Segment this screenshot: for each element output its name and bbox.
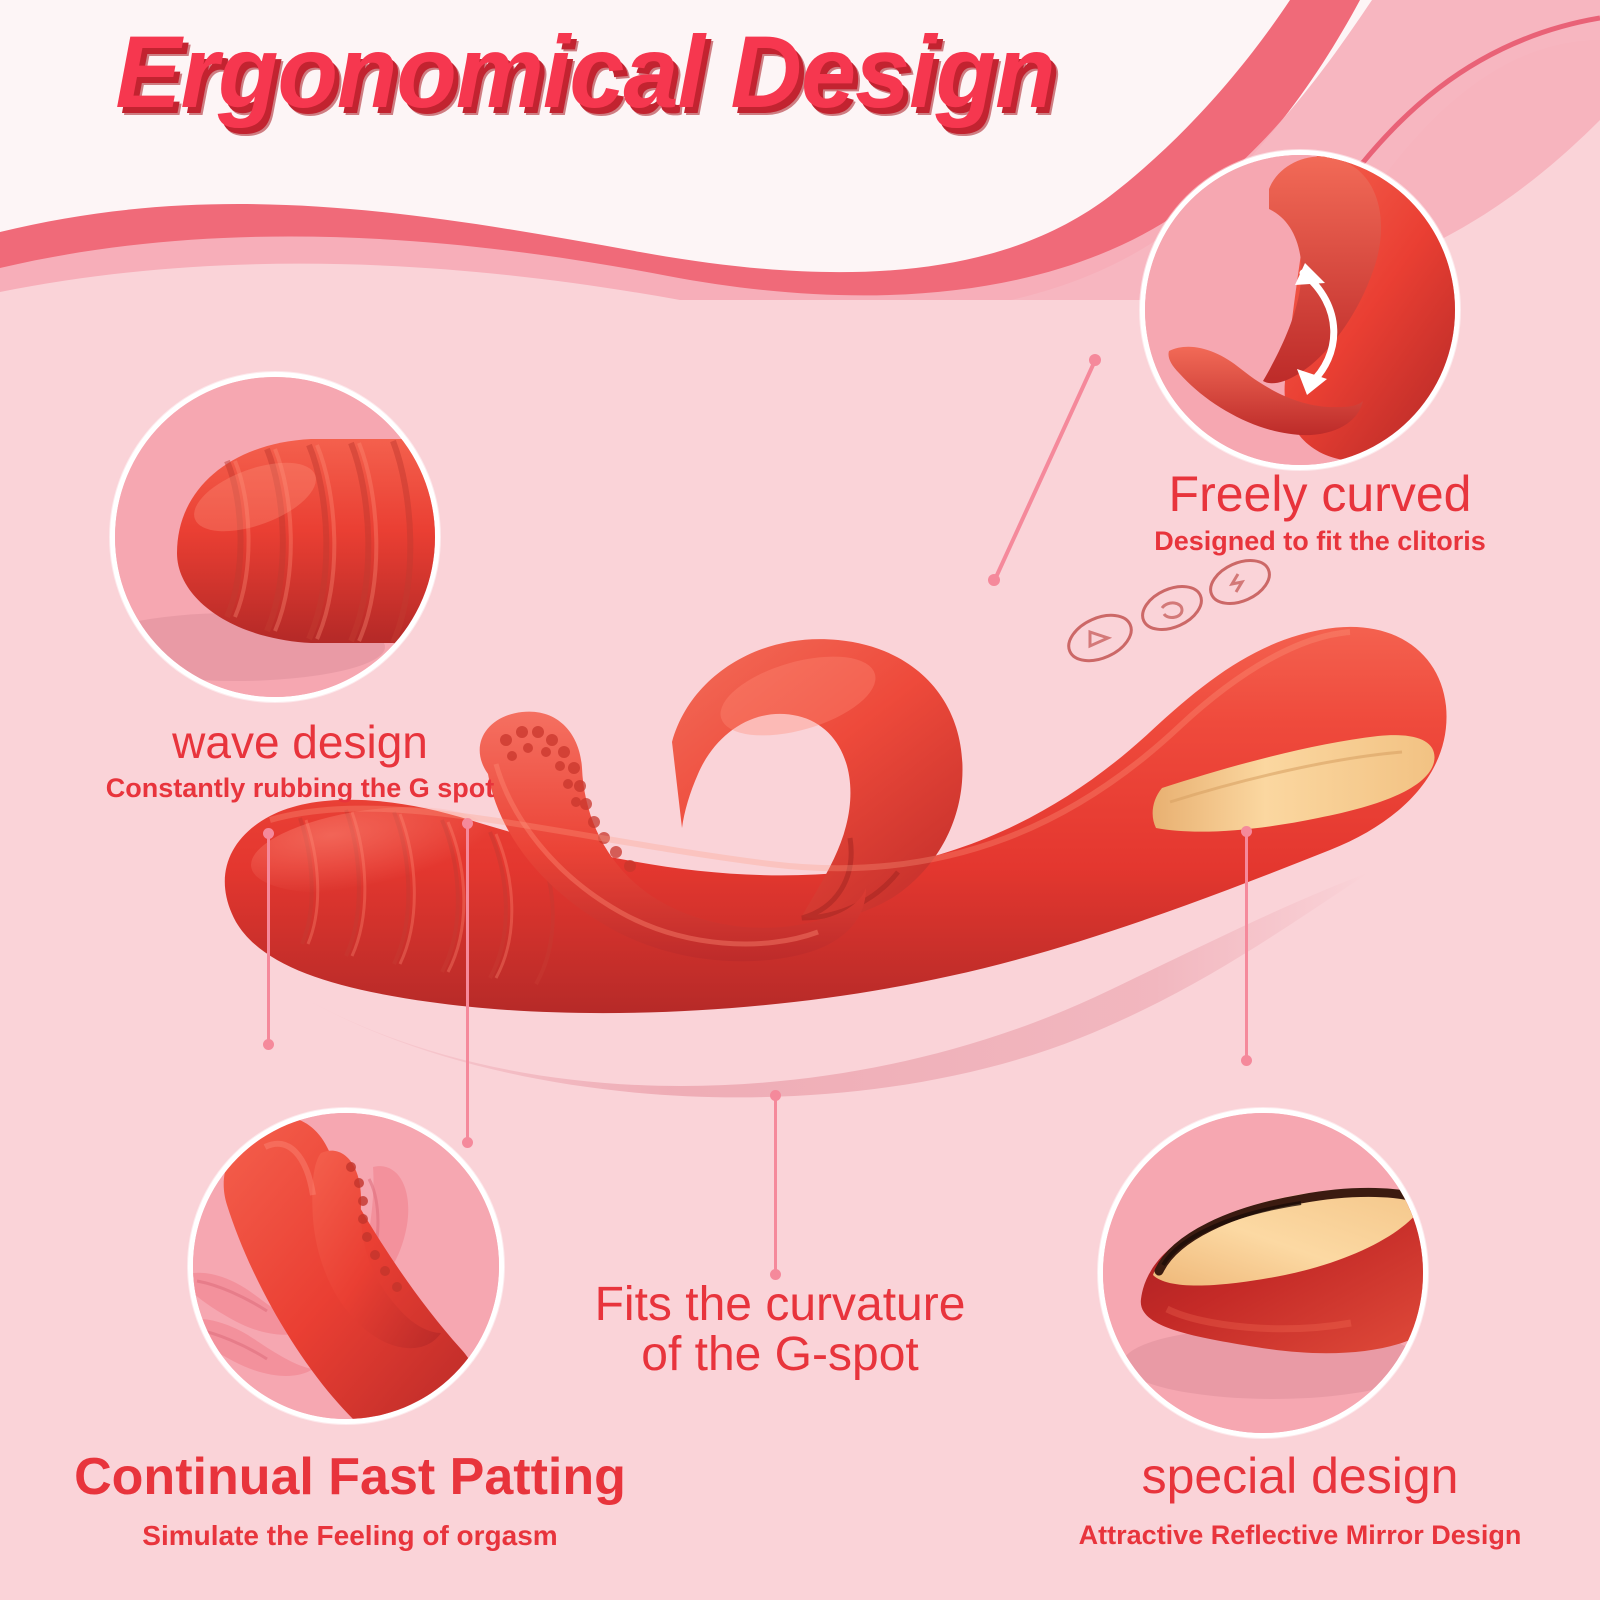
label-wave-design: wave design Constantly rubbing the G spo… (40, 718, 560, 805)
connector-wave-design (262, 828, 276, 1050)
page-title: Ergonomical Design (18, 14, 1153, 131)
label-freely-curved: Freely curved Designed to fit the clitor… (1070, 468, 1570, 557)
label-fits-curvature-line2: of the G-spot (520, 1330, 1040, 1380)
label-fast-patting-title: Continual Fast Patting (10, 1450, 690, 1505)
inset-flexible-arm (1140, 150, 1460, 470)
label-fast-patting: Continual Fast Patting Simulate the Feel… (10, 1450, 690, 1552)
label-special-design-title: special design (980, 1450, 1600, 1503)
label-fast-patting-subtitle: Simulate the Feeling of orgasm (10, 1519, 690, 1553)
label-special-design-subtitle: Attractive Reflective Mirror Design (980, 1519, 1600, 1551)
connector-special-design (1240, 826, 1254, 1066)
label-freely-curved-title: Freely curved (1070, 468, 1570, 521)
inset-patting-tongue-motion (188, 1108, 504, 1424)
label-wave-design-title: wave design (40, 718, 560, 766)
connector-fits-curvature (769, 1090, 783, 1280)
label-freely-curved-subtitle: Designed to fit the clitoris (1070, 525, 1570, 557)
label-special-design: special design Attractive Reflective Mir… (980, 1450, 1600, 1551)
inset-reflective-mirror-panel (1098, 1108, 1428, 1438)
connector-fast-patting (461, 818, 475, 1148)
label-fits-curvature: Fits the curvature of the G-spot (520, 1280, 1040, 1381)
label-wave-design-subtitle: Constantly rubbing the G spot (40, 772, 560, 804)
label-fits-curvature-line1: Fits the curvature (520, 1280, 1040, 1330)
inset-wave-textured-tip (110, 372, 440, 702)
